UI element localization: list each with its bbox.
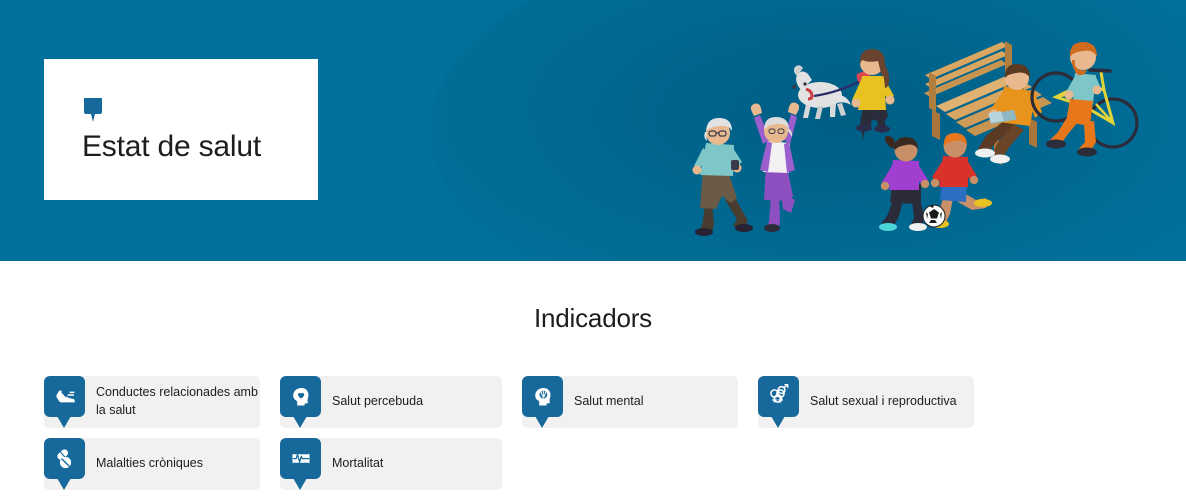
hero-title-card: Estat de salut [44, 59, 318, 200]
indicator-card-conductes-relacionades-amb-la-salut[interactable]: Conductes relacionades amb la salut [44, 376, 260, 428]
indicator-card-salut-percebuda[interactable]: Salut percebuda [280, 376, 502, 428]
page-title: Estat de salut [82, 130, 318, 163]
indicators-heading: Indicadors [0, 261, 1186, 334]
indicator-label: Salut percebuda [332, 393, 423, 411]
soccer-ball-icon [923, 205, 945, 227]
head-heart-icon [280, 376, 321, 417]
hero-banner: Estat de salut [0, 0, 1186, 261]
indicator-label: Salut sexual i reproductiva [810, 393, 957, 411]
indicator-label: Malalties cròniques [96, 455, 203, 473]
indicator-label: Mortalitat [332, 455, 383, 473]
indicator-label: Conductes relacionades amb la salut [96, 384, 260, 420]
head-brain-icon [522, 376, 563, 417]
indicator-card-salut-sexual-i-reproductiva[interactable]: Salut sexual i reproductiva [758, 376, 974, 428]
gender-symbols-icon [758, 376, 799, 417]
pills-icon [44, 438, 85, 479]
indicator-label: Salut mental [574, 393, 643, 411]
location-pin-icon [82, 96, 104, 124]
running-shoe-icon [44, 376, 85, 417]
indicator-card-mortalitat[interactable]: Mortalitat [280, 438, 502, 490]
indicator-card-salut-mental[interactable]: Salut mental [522, 376, 738, 428]
indicator-card-malalties-croniques[interactable]: Malalties cròniques [44, 438, 260, 490]
indicators-grid: Conductes relacionades amb la salut Salu… [44, 376, 1144, 500]
indicators-section: Indicadors Conductes relacionades amb la… [0, 261, 1186, 500]
ecg-monitor-icon [280, 438, 321, 479]
